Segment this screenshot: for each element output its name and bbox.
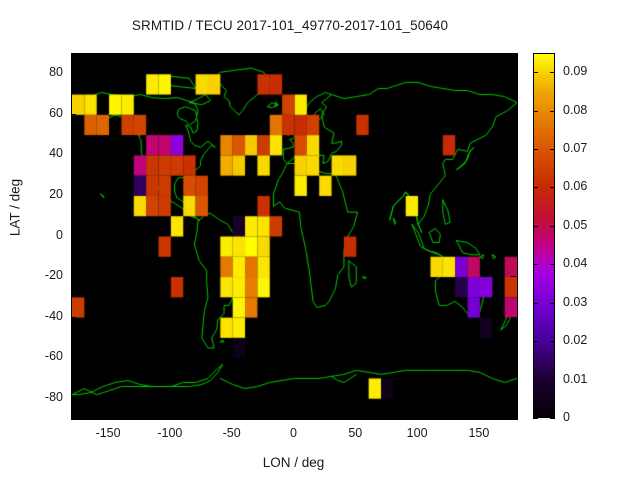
- y-tick-mark: [71, 236, 76, 237]
- y-tick-mark: [511, 154, 516, 155]
- y-tick-mark: [511, 195, 516, 196]
- x-tick-label: 50: [325, 426, 385, 440]
- colorbar-tick-mark: [533, 264, 538, 265]
- y-tick-mark: [71, 114, 76, 115]
- colorbar-tick-mark: [533, 380, 538, 381]
- y-tick-mark: [511, 73, 516, 74]
- x-tick-mark: [479, 413, 480, 418]
- x-tick-mark: [232, 53, 233, 58]
- y-tick-mark: [71, 357, 76, 358]
- y-tick-label: 0: [19, 228, 63, 242]
- y-tick-label: 20: [19, 187, 63, 201]
- y-tick-mark: [511, 357, 516, 358]
- y-tick-mark: [511, 114, 516, 115]
- colorbar-tick-mark: [550, 226, 555, 227]
- x-axis-label: LON / deg: [71, 455, 516, 470]
- x-tick-label: -150: [78, 426, 138, 440]
- colorbar-tick-label: 0: [563, 410, 570, 424]
- colorbar-tick-mark: [533, 187, 538, 188]
- colorbar-tick-mark: [550, 72, 555, 73]
- colorbar-tick-mark: [533, 418, 538, 419]
- colorbar-tick-label: 0.02: [563, 333, 587, 347]
- x-tick-mark: [417, 413, 418, 418]
- x-tick-label: -50: [202, 426, 262, 440]
- colorbar-tick-mark: [550, 264, 555, 265]
- x-tick-mark: [479, 53, 480, 58]
- x-tick-mark: [108, 53, 109, 58]
- x-tick-mark: [170, 53, 171, 58]
- colorbar-tick-mark: [533, 149, 538, 150]
- colorbar-tick-label: 0.01: [563, 372, 587, 386]
- x-tick-mark: [294, 53, 295, 58]
- x-tick-mark: [355, 413, 356, 418]
- y-tick-label: 40: [19, 146, 63, 160]
- colorbar: [533, 53, 555, 418]
- colorbar-gradient: [534, 54, 554, 417]
- x-tick-mark: [417, 53, 418, 58]
- colorbar-tick-label: 0.09: [563, 64, 587, 78]
- y-tick-label: 60: [19, 106, 63, 120]
- colorbar-tick-label: 0.03: [563, 295, 587, 309]
- y-tick-mark: [71, 317, 76, 318]
- colorbar-tick-mark: [550, 341, 555, 342]
- x-tick-mark: [294, 413, 295, 418]
- y-tick-mark: [71, 195, 76, 196]
- chart-root: SRMTID / TECU 2017-101_49770-2017-101_50…: [0, 0, 640, 480]
- y-tick-label: -20: [19, 268, 63, 282]
- x-tick-label: 150: [449, 426, 509, 440]
- colorbar-tick-mark: [533, 72, 538, 73]
- colorbar-tick-mark: [533, 111, 538, 112]
- colorbar-tick-mark: [550, 149, 555, 150]
- colorbar-tick-mark: [550, 187, 555, 188]
- y-tick-mark: [71, 398, 76, 399]
- y-tick-mark: [511, 317, 516, 318]
- colorbar-tick-mark: [533, 303, 538, 304]
- coastline-map: [72, 54, 517, 419]
- colorbar-tick-label: 0.07: [563, 141, 587, 155]
- x-tick-label: -100: [140, 426, 200, 440]
- colorbar-tick-mark: [550, 380, 555, 381]
- colorbar-tick-mark: [533, 226, 538, 227]
- y-tick-mark: [71, 73, 76, 74]
- chart-title: SRMTID / TECU 2017-101_49770-2017-101_50…: [0, 18, 580, 33]
- colorbar-tick-mark: [533, 341, 538, 342]
- colorbar-tick-mark: [550, 303, 555, 304]
- y-axis-label: LAT / deg: [8, 148, 23, 268]
- y-tick-mark: [71, 276, 76, 277]
- y-tick-mark: [71, 154, 76, 155]
- x-tick-mark: [232, 413, 233, 418]
- plot-area: [71, 53, 518, 420]
- colorbar-tick-label: 0.06: [563, 179, 587, 193]
- colorbar-tick-label: 0.08: [563, 103, 587, 117]
- y-tick-label: -60: [19, 349, 63, 363]
- colorbar-tick-mark: [550, 111, 555, 112]
- y-tick-mark: [511, 236, 516, 237]
- x-tick-label: 100: [387, 426, 447, 440]
- y-tick-label: -80: [19, 390, 63, 404]
- colorbar-tick-label: 0.05: [563, 218, 587, 232]
- y-tick-label: 80: [19, 65, 63, 79]
- x-tick-mark: [355, 53, 356, 58]
- y-tick-label: -40: [19, 309, 63, 323]
- x-tick-label: 0: [264, 426, 324, 440]
- colorbar-tick-label: 0.04: [563, 256, 587, 270]
- colorbar-tick-mark: [550, 418, 555, 419]
- y-tick-mark: [511, 398, 516, 399]
- x-tick-mark: [170, 413, 171, 418]
- y-tick-mark: [511, 276, 516, 277]
- x-tick-mark: [108, 413, 109, 418]
